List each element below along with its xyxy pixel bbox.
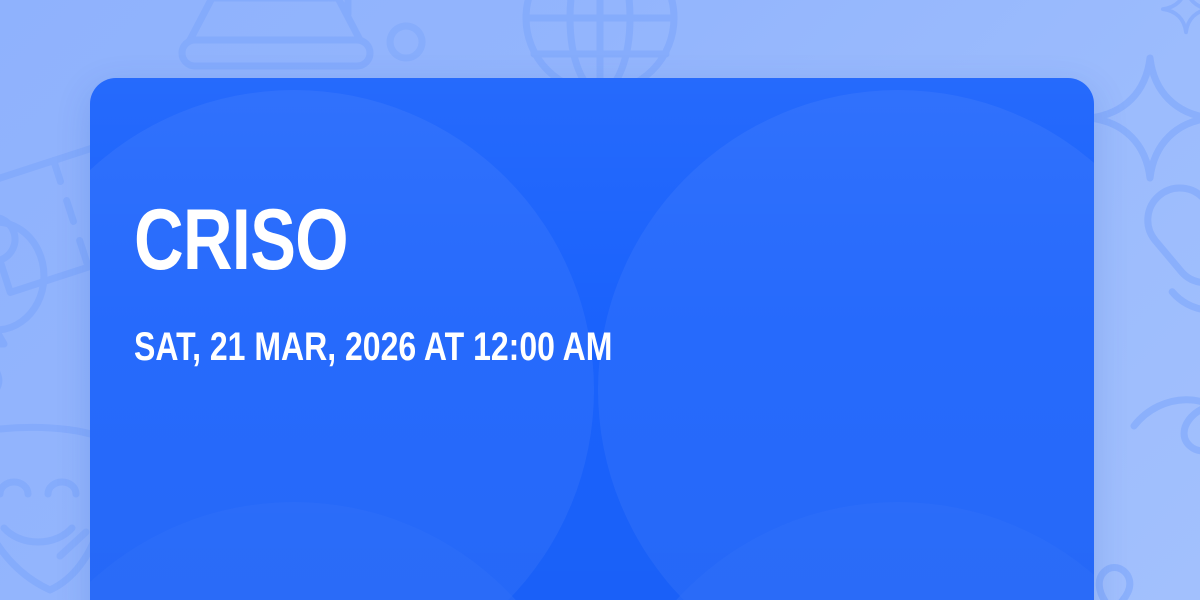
balloon-icon (0, 222, 44, 392)
decor-circle (598, 502, 1094, 600)
event-card-content: CRISO SAT, 21 MAR, 2026 AT 12:00 AM (134, 198, 1050, 368)
event-card-page: CRISO SAT, 21 MAR, 2026 AT 12:00 AM (0, 0, 1200, 600)
stage-icon (182, 0, 370, 66)
confetti-icon (1134, 400, 1200, 451)
sparkle-icon (1090, 58, 1200, 178)
decor-circle (90, 502, 594, 600)
event-datetime: SAT, 21 MAR, 2026 AT 12:00 AM (134, 326, 867, 368)
sparkle-icon (1163, 0, 1200, 32)
event-card[interactable]: CRISO SAT, 21 MAR, 2026 AT 12:00 AM (90, 78, 1094, 600)
event-title: CRISO (134, 198, 867, 282)
microphone-icon (1119, 162, 1200, 362)
